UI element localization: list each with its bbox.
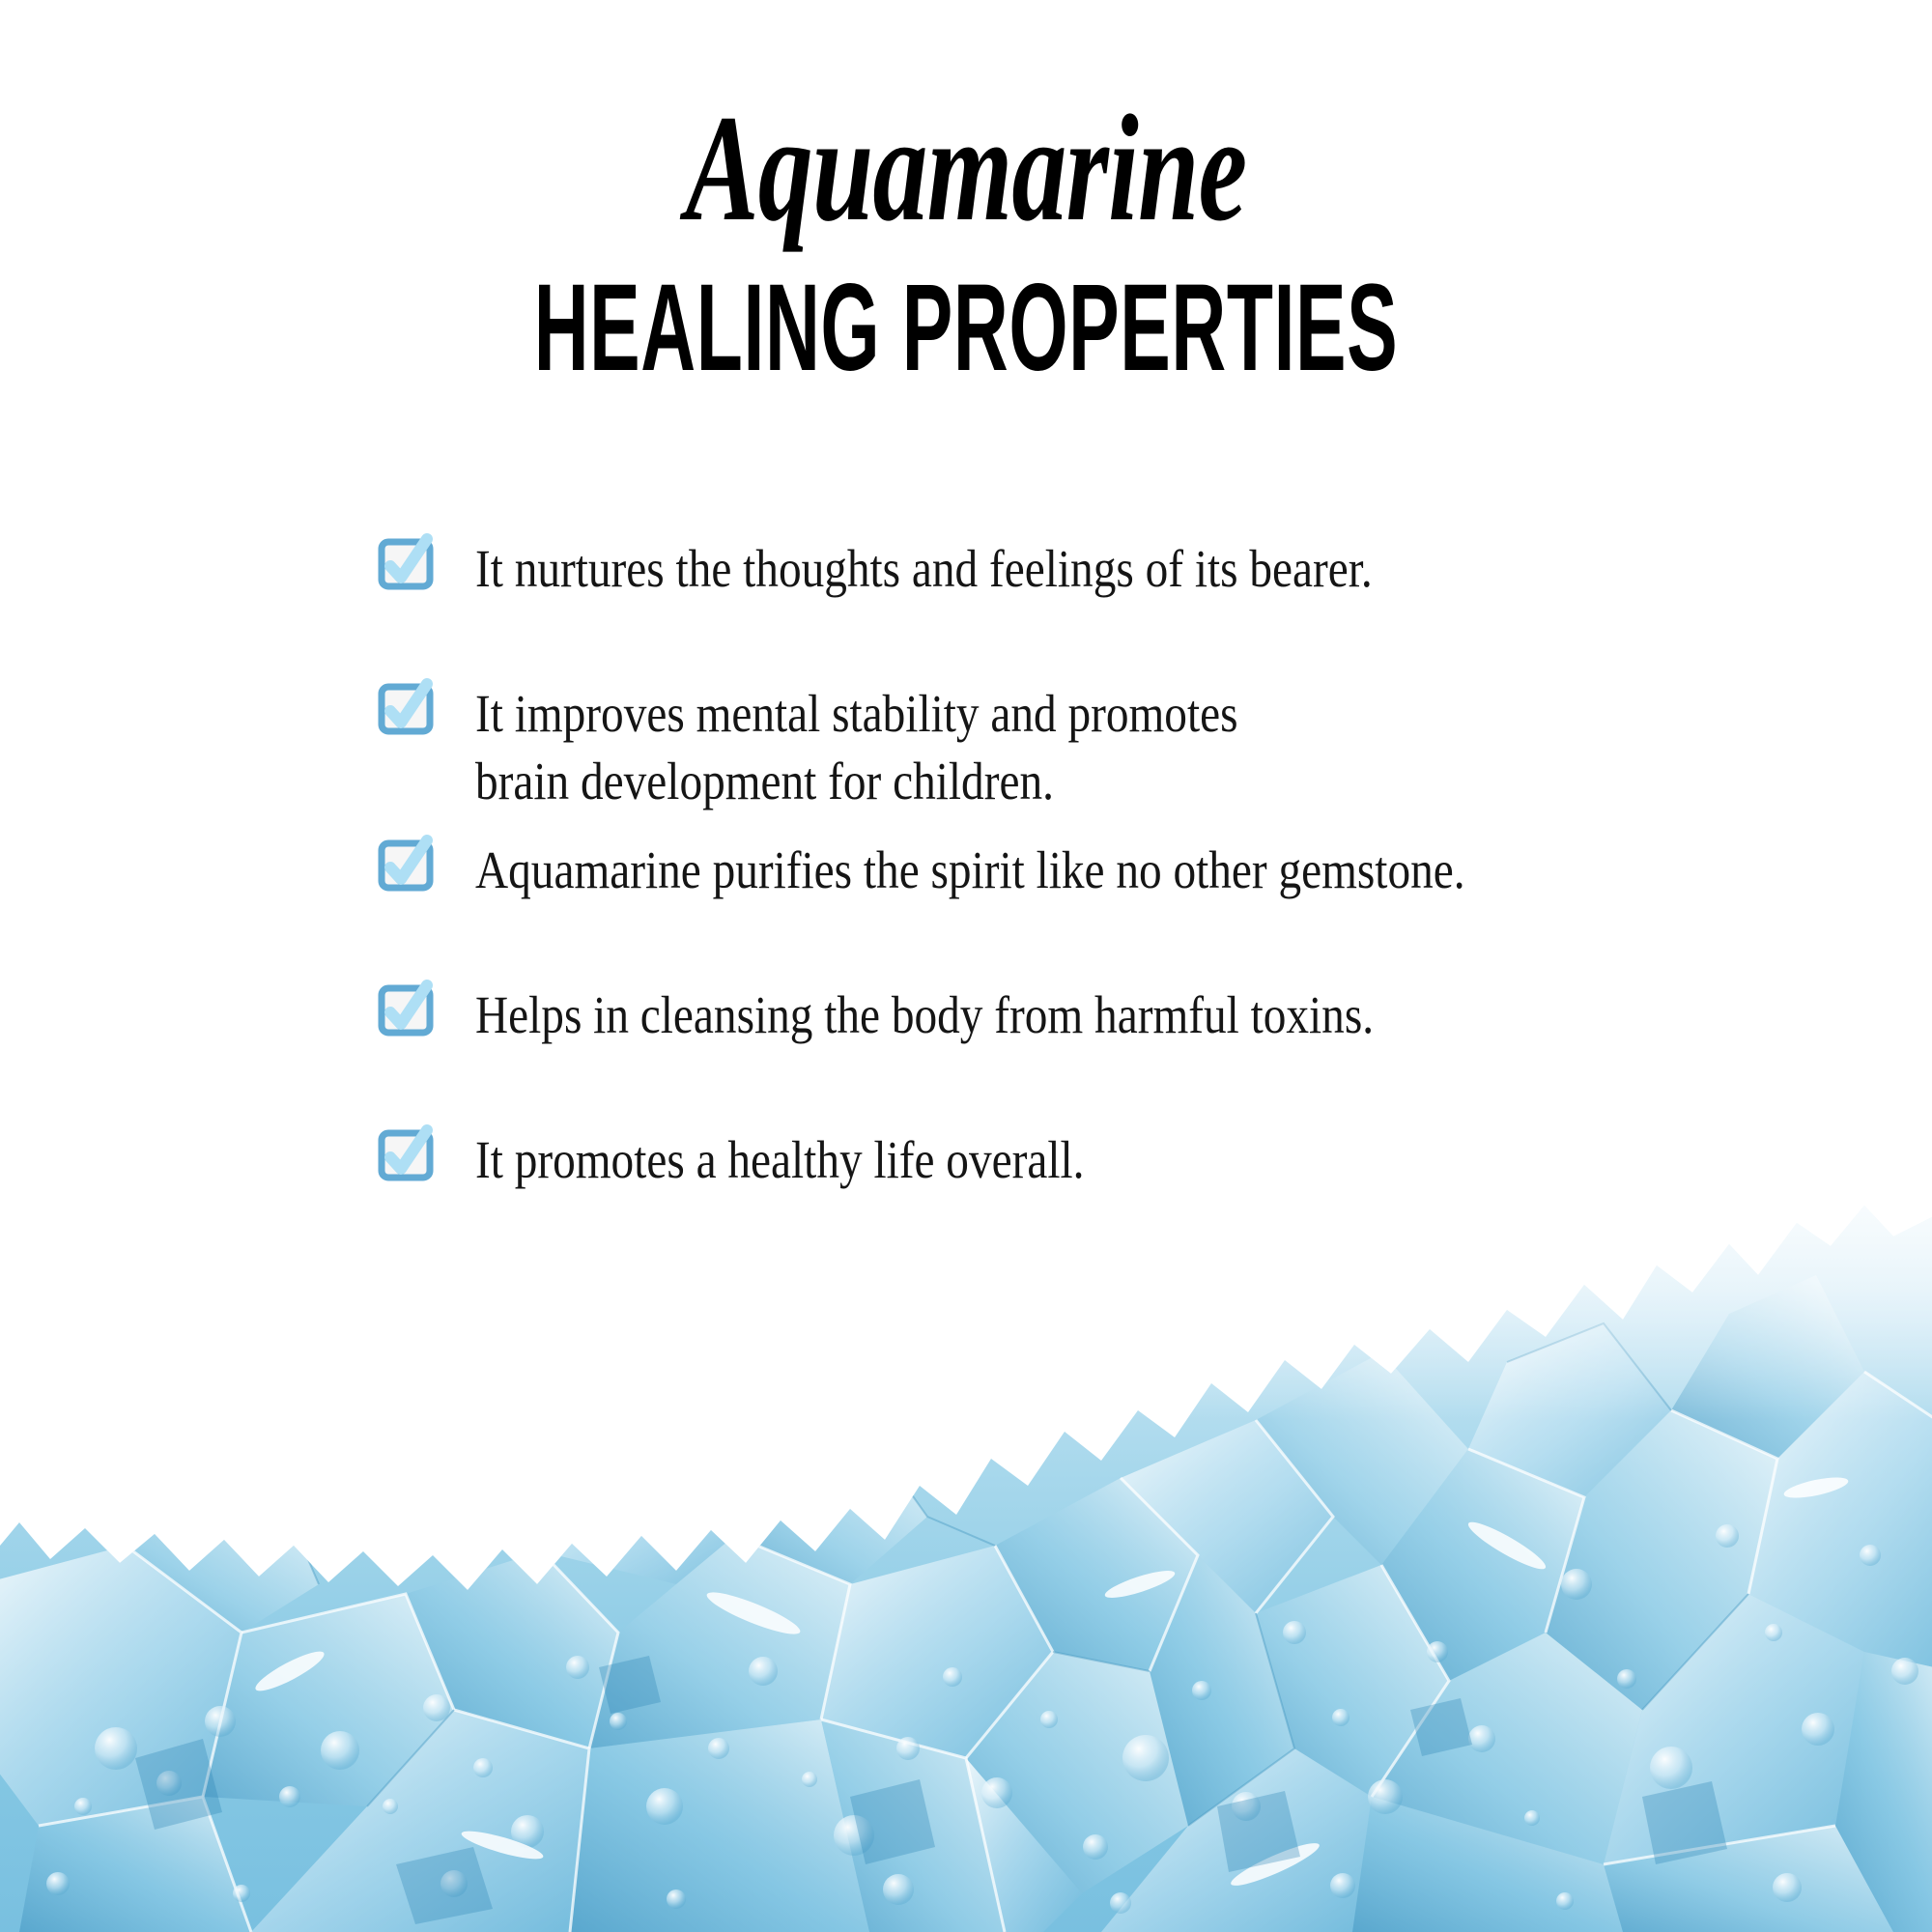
list-item-label: It improves mental stability and promote… — [475, 678, 1622, 815]
ice-cubes-photo — [0, 1130, 1932, 1932]
healing-properties-list: It nurtures the thoughts and feelings of… — [379, 533, 1808, 1194]
list-item: Aquamarine purifies the spirit like no o… — [379, 835, 1808, 904]
page-title: Aquamarine — [270, 0, 1662, 245]
list-item-label: Helps in cleansing the body from harmful… — [475, 980, 1622, 1049]
list-item: Helps in cleansing the body from harmful… — [379, 980, 1808, 1049]
checkbox-checked-icon[interactable] — [379, 983, 433, 1037]
checkbox-checked-icon[interactable] — [379, 537, 433, 591]
header-block: Aquamarine HEALING PROPERTIES — [0, 0, 1932, 390]
list-item: It improves mental stability and promote… — [379, 678, 1808, 815]
page-subtitle: HEALING PROPERTIES — [372, 245, 1560, 390]
checkbox-checked-icon[interactable] — [379, 838, 433, 893]
list-item: It nurtures the thoughts and feelings of… — [379, 533, 1808, 603]
list-item-label: It nurtures the thoughts and feelings of… — [475, 533, 1622, 603]
list-item-label: Aquamarine purifies the spirit like no o… — [475, 835, 1622, 904]
checkbox-checked-icon[interactable] — [379, 682, 433, 736]
poster-canvas: Aquamarine HEALING PROPERTIES It nurture… — [0, 0, 1932, 1932]
